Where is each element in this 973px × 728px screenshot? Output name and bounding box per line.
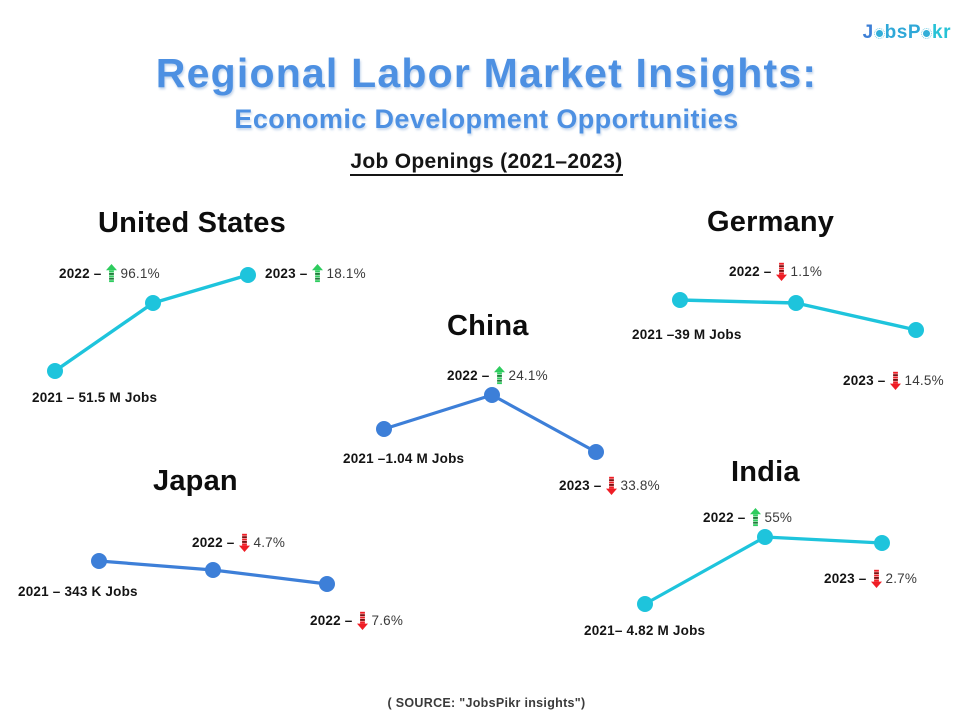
- label-india-2022: 2022 – 55%: [703, 508, 792, 527]
- label-japan-2022-value: 4.7%: [254, 536, 286, 550]
- label-germany-2022-year: 2022 –: [729, 265, 772, 279]
- arrow-up-icon: [750, 508, 761, 527]
- section-title-text: Job Openings (2021–2023): [350, 150, 622, 176]
- label-japan-2023-year: 2022 –: [310, 614, 353, 628]
- jobspikr-logo: JbsPkr: [863, 22, 951, 44]
- country-title-united-states: United States: [98, 207, 286, 240]
- data-point-china-2023: [588, 444, 604, 460]
- country-title-china: China: [447, 310, 529, 343]
- label-germany-2021: 2021 –39 M Jobs: [632, 328, 742, 342]
- label-china-2022-value: 24.1%: [509, 369, 548, 383]
- label-us-2023: 2023 – 18.1%: [265, 264, 366, 283]
- data-point-germany-2022: [788, 295, 804, 311]
- data-point-india-2022: [757, 529, 773, 545]
- country-title-germany: Germany: [707, 206, 834, 239]
- source-footer: ( SOURCE: "JobsPikr insights"): [0, 696, 973, 710]
- label-china-2023-year: 2023 –: [559, 479, 602, 493]
- label-china-2021-text: 2021 –1.04 M Jobs: [343, 452, 464, 466]
- logo-dot-icon-2: [921, 28, 932, 39]
- arrow-up-icon: [106, 264, 117, 283]
- label-india-2022-value: 55%: [765, 511, 793, 525]
- logo-text-part3: kr: [932, 22, 951, 43]
- data-point-china-2021: [376, 421, 392, 437]
- page-subtitle: Economic Development Opportunities: [0, 104, 973, 135]
- label-india-2021-text: 2021– 4.82 M Jobs: [584, 624, 705, 638]
- label-japan-2021-text: 2021 – 343 K Jobs: [18, 585, 138, 599]
- country-title-japan: Japan: [153, 465, 238, 498]
- label-china-2023-value: 33.8%: [621, 479, 660, 493]
- line-path-united-states: [55, 275, 248, 371]
- label-india-2023-value: 2.7%: [886, 572, 918, 586]
- label-china-2022-year: 2022 –: [447, 369, 490, 383]
- line-path-china: [384, 395, 596, 452]
- label-japan-2023-value: 7.6%: [372, 614, 404, 628]
- label-japan-2022-year: 2022 –: [192, 536, 235, 550]
- data-point-china-2022: [484, 387, 500, 403]
- label-us-2022-value: 96.1%: [121, 267, 160, 281]
- label-china-2022: 2022 – 24.1%: [447, 366, 548, 385]
- data-point-japan-2021: [91, 553, 107, 569]
- data-point-india-2023: [874, 535, 890, 551]
- arrow-down-icon: [239, 533, 250, 552]
- label-india-2023-year: 2023 –: [824, 572, 867, 586]
- label-germany-2022-value: 1.1%: [791, 265, 823, 279]
- arrow-down-icon: [890, 371, 901, 390]
- arrow-down-icon: [871, 569, 882, 588]
- data-point-japan-2023: [319, 576, 335, 592]
- label-india-2022-year: 2022 –: [703, 511, 746, 525]
- data-point-india-2021: [637, 596, 653, 612]
- label-japan-2023: 2022 – 7.6%: [310, 611, 403, 630]
- label-us-2021-text: 2021 – 51.5 M Jobs: [32, 391, 157, 405]
- data-point-germany-2023: [908, 322, 924, 338]
- arrow-up-icon: [312, 264, 323, 283]
- label-us-2023-value: 18.1%: [327, 267, 366, 281]
- label-china-2021: 2021 –1.04 M Jobs: [343, 452, 464, 466]
- label-us-2021: 2021 – 51.5 M Jobs: [32, 391, 157, 405]
- data-point-us-2023: [240, 267, 256, 283]
- section-title: Job Openings (2021–2023): [0, 150, 973, 174]
- logo-dot-icon: [874, 28, 885, 39]
- logo-text-part1: J: [863, 22, 874, 43]
- data-point-us-2021: [47, 363, 63, 379]
- arrow-down-icon: [357, 611, 368, 630]
- label-japan-2021: 2021 – 343 K Jobs: [18, 585, 138, 599]
- label-germany-2023: 2023 – 14.5%: [843, 371, 944, 390]
- data-point-us-2022: [145, 295, 161, 311]
- label-germany-2022: 2022 – 1.1%: [729, 262, 822, 281]
- label-us-2023-year: 2023 –: [265, 267, 308, 281]
- label-germany-2023-year: 2023 –: [843, 374, 886, 388]
- data-point-japan-2022: [205, 562, 221, 578]
- page-title: Regional Labor Market Insights:: [0, 50, 973, 97]
- label-india-2021: 2021– 4.82 M Jobs: [584, 624, 705, 638]
- chart-germany: [660, 285, 940, 355]
- label-us-2022: 2022 – 96.1%: [59, 264, 160, 283]
- label-us-2022-year: 2022 –: [59, 267, 102, 281]
- arrow-down-icon: [776, 262, 787, 281]
- logo-text-part2: bsP: [885, 22, 921, 43]
- country-title-india: India: [731, 456, 800, 489]
- label-germany-2021-text: 2021 –39 M Jobs: [632, 328, 742, 342]
- arrow-up-icon: [494, 366, 505, 385]
- label-india-2023: 2023 – 2.7%: [824, 569, 917, 588]
- label-china-2023: 2023 – 33.8%: [559, 476, 660, 495]
- label-germany-2023-value: 14.5%: [905, 374, 944, 388]
- arrow-down-icon: [606, 476, 617, 495]
- data-point-germany-2021: [672, 292, 688, 308]
- label-japan-2022: 2022 – 4.7%: [192, 533, 285, 552]
- infographic-page: JbsPkr Regional Labor Market Insights: E…: [0, 0, 973, 728]
